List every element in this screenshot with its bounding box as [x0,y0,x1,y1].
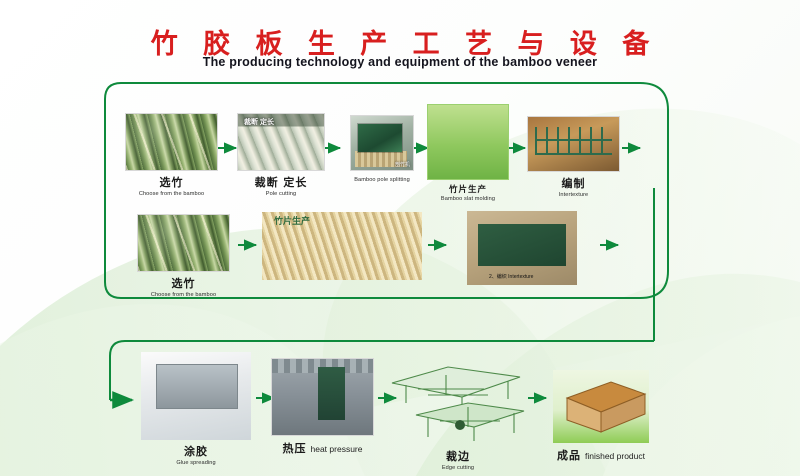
step-row2-2[interactable]: 竹片生产 [262,212,422,280]
board-shape [553,370,649,443]
step-label-en: Glue spreading [141,460,251,466]
step-row2-1[interactable]: 选竹 Choose from the bamboo [137,214,230,298]
step-row2-3[interactable]: 2、编织 Intertexture [467,211,577,285]
step-row1-1[interactable]: 选竹 Choose from the bamboo [125,113,218,197]
thumbnail-overlay-text: 剖竹机 [395,161,410,168]
thumbnail-cut-bamboo-poles: 裁断 定长 [237,113,325,171]
step-row3-2[interactable]: 热压heat pressure [271,358,374,457]
step-row1-3[interactable]: 剖竹机 Bamboo pole splitting [350,115,414,183]
step-label-en: Pole cutting [237,191,325,197]
step-label-cn: 涂胶 [141,443,251,459]
step-label-en: Choose from the bamboo [125,191,218,197]
thumbnail-pole-splitting-machine: 剖竹机 [350,115,414,171]
step-label-cn: 裁边 [388,448,528,464]
step-label-en: heat pressure [311,444,363,454]
step-row3-4[interactable]: 成品finished product [553,370,649,464]
thumbnail-weaving-machine [527,116,620,172]
thumbnail-bamboo-poles-pile [137,214,230,272]
step-label-en: finished product [585,451,645,461]
step-row1-4[interactable]: 竹片生产 Bamboo slat molding [427,104,509,202]
step-label-cn: 选竹 [137,275,230,291]
step-row3-3[interactable]: 裁边 Edge cutting [388,355,528,471]
thumbnail-slat-molding-machines [427,104,509,180]
step-label-en: Bamboo slat molding [427,196,509,202]
thumbnail-overlay-text: 裁断 定长 [244,117,274,127]
step-label-cn: 编制 [527,175,620,191]
thumbnail-bamboo-strip-shredder: 竹片生产 [262,212,422,280]
step-row1-5[interactable]: 编制 Intertexture [527,116,620,198]
poster-canvas: 竹 胶 板 生 产 工 艺 与 设 备 The producing techno… [0,0,800,476]
step-label-inline: 成品finished product [553,446,649,464]
step-row1-2[interactable]: 裁断 定长 裁断 定长 Pole cutting [237,113,325,197]
step-label-cn: 裁断 定长 [237,174,325,190]
step-label-en: Choose from the bamboo [137,292,230,298]
thumbnail-overlay-text: 竹片生产 [274,214,310,227]
thumbnail-edge-cutting-machines [388,355,528,445]
step-label-inline: 热压heat pressure [271,439,374,457]
thumbnail-overlay-text: 2、编织 Intertexture [489,273,533,280]
step-label-en: Bamboo pole splitting [350,177,414,183]
thumbnail-glue-spreading-machine [141,352,251,440]
thumbnail-finished-bamboo-board [553,370,649,443]
edge-cutting-linework [388,355,528,445]
step-label-en: Edge cutting [388,465,528,471]
step-row3-1[interactable]: 涂胶 Glue spreading [141,352,251,466]
step-label-cn: 选竹 [125,174,218,190]
step-label-en: Intertexture [527,192,620,198]
step-label-cn: 竹片生产 [427,183,509,195]
thumbnail-bamboo-poles-pile [125,113,218,171]
step-label-cn: 成品 [557,449,581,462]
step-label-cn: 热压 [283,442,307,455]
thumbnail-intertexture-loom: 2、编织 Intertexture [467,211,577,285]
thumbnail-hot-press-factory [271,358,374,436]
